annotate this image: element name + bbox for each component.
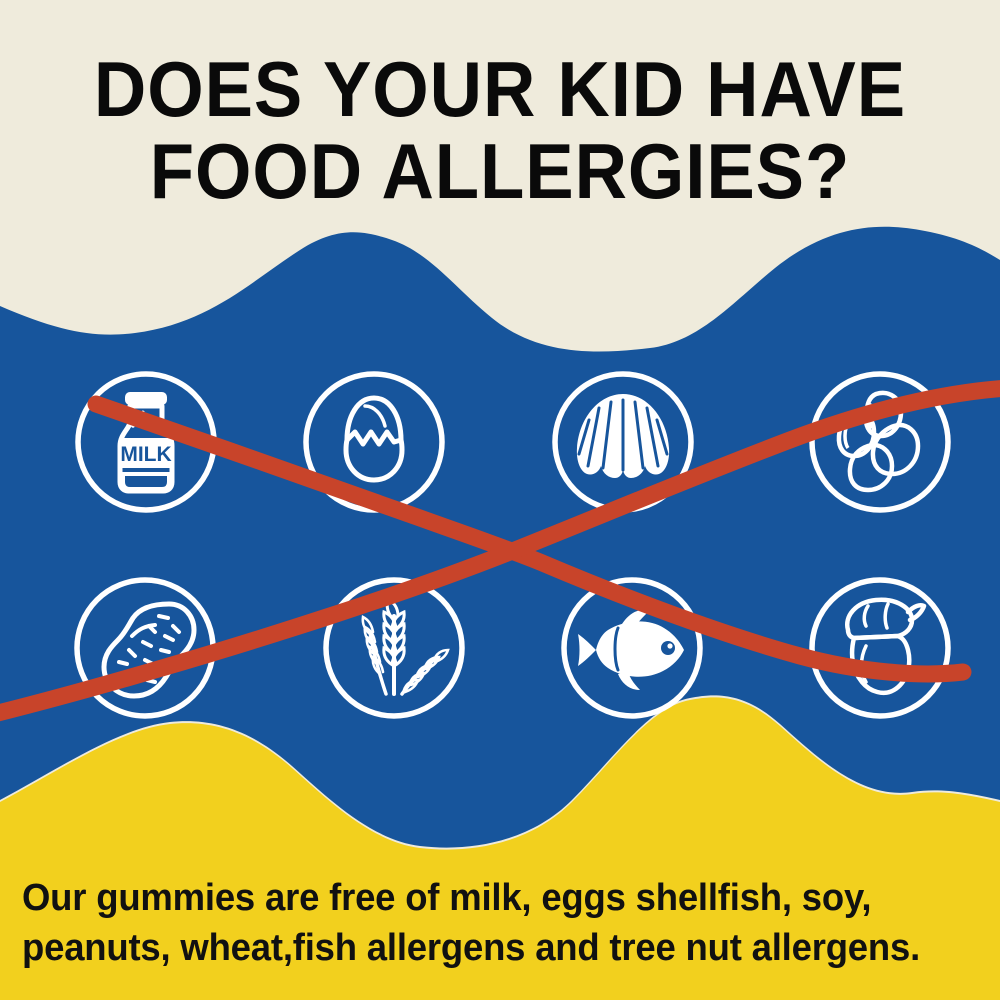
allergen-icon-soy xyxy=(808,370,952,514)
allergen-icon-peanuts xyxy=(73,576,217,720)
milk-bottle-label: MILK xyxy=(120,443,171,466)
icon-ring xyxy=(306,374,442,510)
wheat-stalks-icon xyxy=(363,600,448,694)
caption-line-1: Our gummies are free of milk, eggs shell… xyxy=(22,873,940,923)
allergen-icon-grid: MILK xyxy=(0,0,1000,1000)
caption-text: Our gummies are free of milk, eggs shell… xyxy=(0,873,1000,973)
allergen-icon-shellfish xyxy=(551,370,695,514)
allergen-icon-treenuts xyxy=(808,576,952,720)
allergen-icon-fish xyxy=(560,576,704,720)
milk-bottle-icon: MILK xyxy=(120,392,172,491)
peanut-icon xyxy=(104,604,194,696)
allergen-icon-wheat xyxy=(322,576,466,720)
allergen-icon-eggs xyxy=(302,370,446,514)
acorn-icon xyxy=(847,600,924,693)
scallop-shell-icon xyxy=(577,394,669,478)
allergy-infographic-poster: DOES YOUR KID HAVE FOOD ALLERGIES? MILK xyxy=(0,0,1000,1000)
allergen-icon-milk: MILK xyxy=(74,370,218,514)
soybeans-icon xyxy=(839,393,918,490)
fish-icon xyxy=(578,610,684,690)
caption-line-2: peanuts, wheat,fish allergens and tree n… xyxy=(22,923,940,973)
cracked-egg-icon xyxy=(346,398,402,480)
